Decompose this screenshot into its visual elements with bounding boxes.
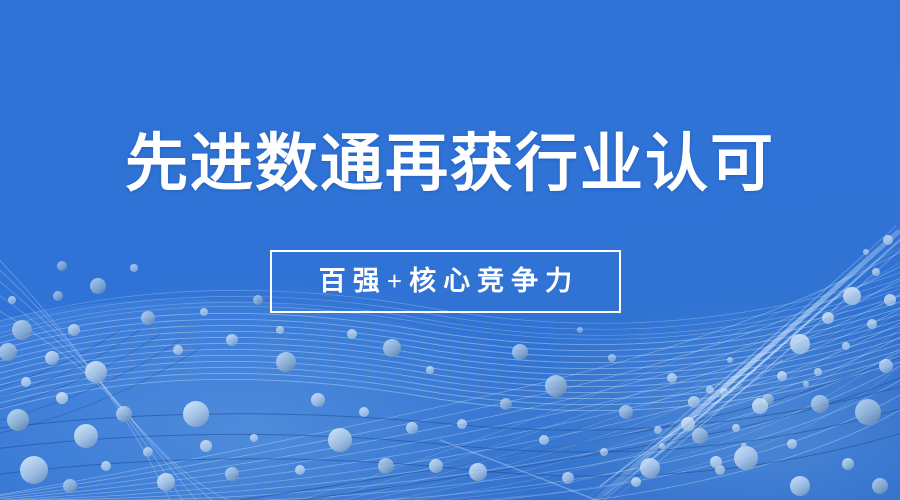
subtitle-text: 百强+核心竞争力 xyxy=(312,268,579,295)
page-title: 先进数通再获行业认可 xyxy=(0,133,900,196)
promo-banner: 先进数通再获行业认可 百强+核心竞争力 xyxy=(0,0,900,500)
banner-content: 先进数通再获行业认可 百强+核心竞争力 xyxy=(0,0,900,500)
subtitle-badge: 百强+核心竞争力 xyxy=(270,250,621,313)
